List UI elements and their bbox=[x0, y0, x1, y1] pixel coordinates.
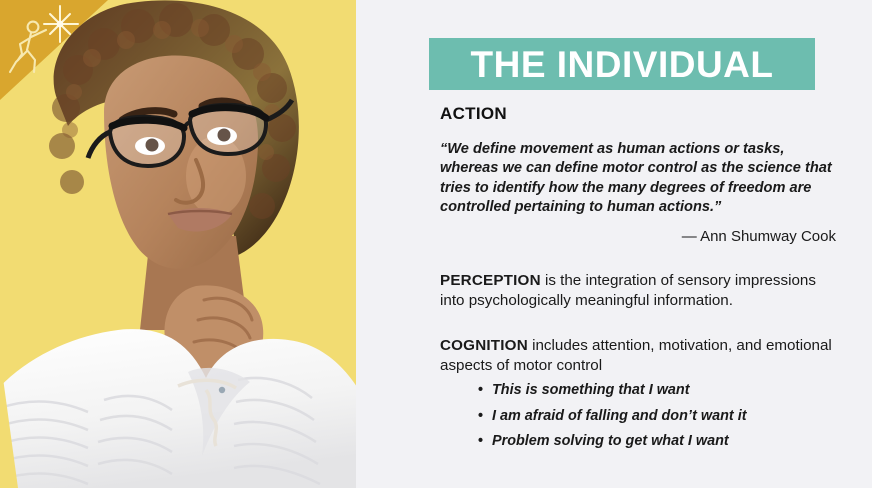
body-block: ACTION “We define movement as human acti… bbox=[440, 104, 850, 459]
list-item-label: I am afraid of falling and don’t want it bbox=[492, 408, 747, 424]
content-panel: THE INDIVIDUAL ACTION “We define movemen… bbox=[356, 0, 872, 488]
page-title: THE INDIVIDUAL bbox=[471, 46, 774, 83]
logo-triangle bbox=[0, 0, 108, 100]
action-quote: “We define movement as human actions or … bbox=[440, 140, 836, 218]
running-figure-with-star-icon[interactable] bbox=[0, 0, 108, 100]
list-item: • I am afraid of falling and don’t want … bbox=[478, 408, 850, 425]
presentation-slide: THE INDIVIDUAL ACTION “We define movemen… bbox=[0, 0, 872, 488]
cognition-bullet-list: • This is something that I want • I am a… bbox=[440, 382, 850, 450]
star-center bbox=[57, 21, 64, 28]
logo-corner[interactable] bbox=[0, 0, 108, 100]
list-item-label: This is something that I want bbox=[492, 382, 690, 398]
action-heading: ACTION bbox=[440, 104, 850, 124]
bullet-icon: • bbox=[478, 433, 483, 450]
bracelet-charm bbox=[219, 387, 225, 393]
bullet-icon: • bbox=[478, 408, 483, 425]
title-banner: THE INDIVIDUAL bbox=[429, 38, 815, 90]
sweater bbox=[0, 329, 356, 488]
list-item-label: Problem solving to get what I want bbox=[492, 433, 729, 449]
perception-term: PERCEPTION bbox=[440, 272, 541, 289]
list-item: • This is something that I want bbox=[478, 382, 850, 399]
list-item: • Problem solving to get what I want bbox=[478, 433, 850, 450]
perception-paragraph: PERCEPTION is the integration of sensory… bbox=[440, 271, 840, 311]
bullet-icon: • bbox=[478, 382, 483, 399]
photo-panel bbox=[0, 0, 356, 488]
quote-attribution: — Ann Shumway Cook bbox=[440, 228, 836, 245]
cognition-term: COGNITION bbox=[440, 337, 528, 354]
cognition-paragraph: COGNITION includes attention, motivation… bbox=[440, 336, 840, 376]
